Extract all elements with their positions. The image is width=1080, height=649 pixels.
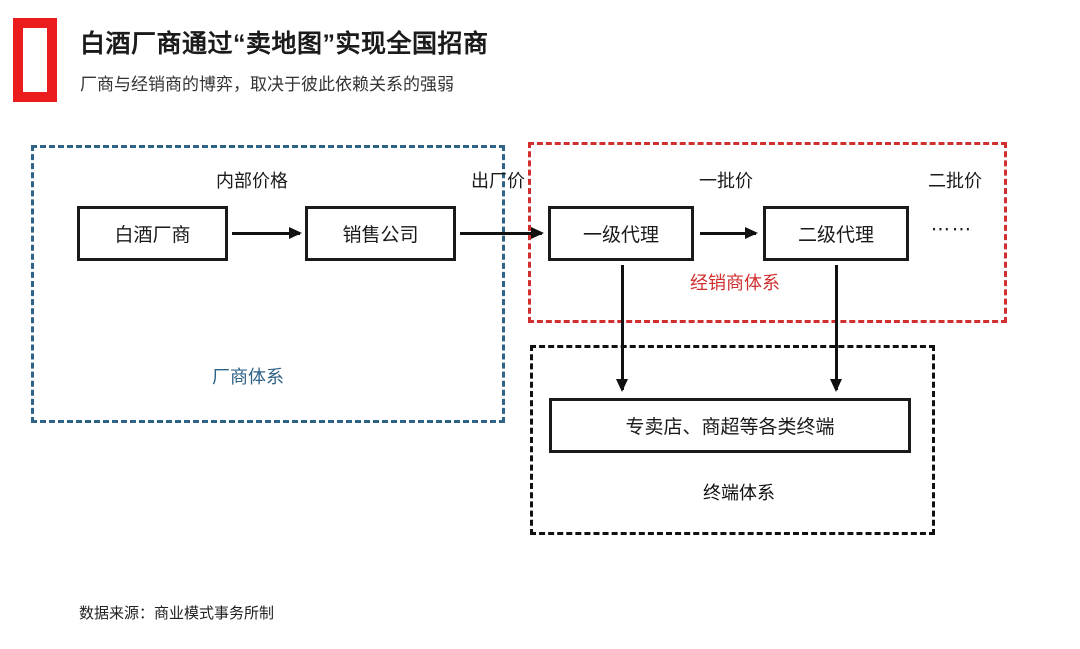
- node-agent-level1: 一级代理: [548, 206, 694, 261]
- page-subtitle: 厂商与经销商的博弈，取决于彼此依赖关系的强弱: [80, 70, 454, 95]
- red-accent-mark-icon: [13, 18, 57, 102]
- region-caption-manufacturer: 厂商体系: [212, 363, 284, 389]
- ellipsis-more-agents: ⋯⋯: [931, 218, 973, 241]
- price-label-first-lot: 一批价: [699, 167, 753, 193]
- region-caption-distributor: 经销商体系: [690, 269, 780, 295]
- header: 白酒厂商通过“卖地图”实现全国招商 厂商与经销商的博弈，取决于彼此依赖关系的强弱: [0, 0, 1080, 120]
- arrow-agent1-to-agent2-icon: [700, 232, 756, 235]
- node-agent-level2: 二级代理: [763, 206, 909, 261]
- page-title: 白酒厂商通过“卖地图”实现全国招商: [80, 24, 489, 60]
- node-maker: 白酒厂商: [77, 206, 228, 261]
- arrow-agent2-to-terminal-icon: [835, 265, 838, 390]
- arrow-maker-to-sales-icon: [232, 232, 300, 235]
- source-note: 数据来源：商业模式事务所制: [79, 602, 274, 623]
- node-sales-company: 销售公司: [305, 206, 456, 261]
- price-label-second-lot: 二批价: [928, 167, 982, 193]
- arrow-sales-to-agent1-icon: [460, 232, 542, 235]
- diagram-canvas: 厂商体系 经销商体系 终端体系 内部价格 出厂价 一批价 二批价 白酒厂商 销售…: [0, 120, 1080, 590]
- price-label-factory: 出厂价: [471, 167, 525, 193]
- region-caption-terminal: 终端体系: [703, 479, 775, 505]
- node-terminal-outlets: 专卖店、商超等各类终端: [549, 398, 911, 453]
- price-label-internal: 内部价格: [216, 167, 288, 193]
- arrow-agent1-to-terminal-icon: [621, 265, 624, 390]
